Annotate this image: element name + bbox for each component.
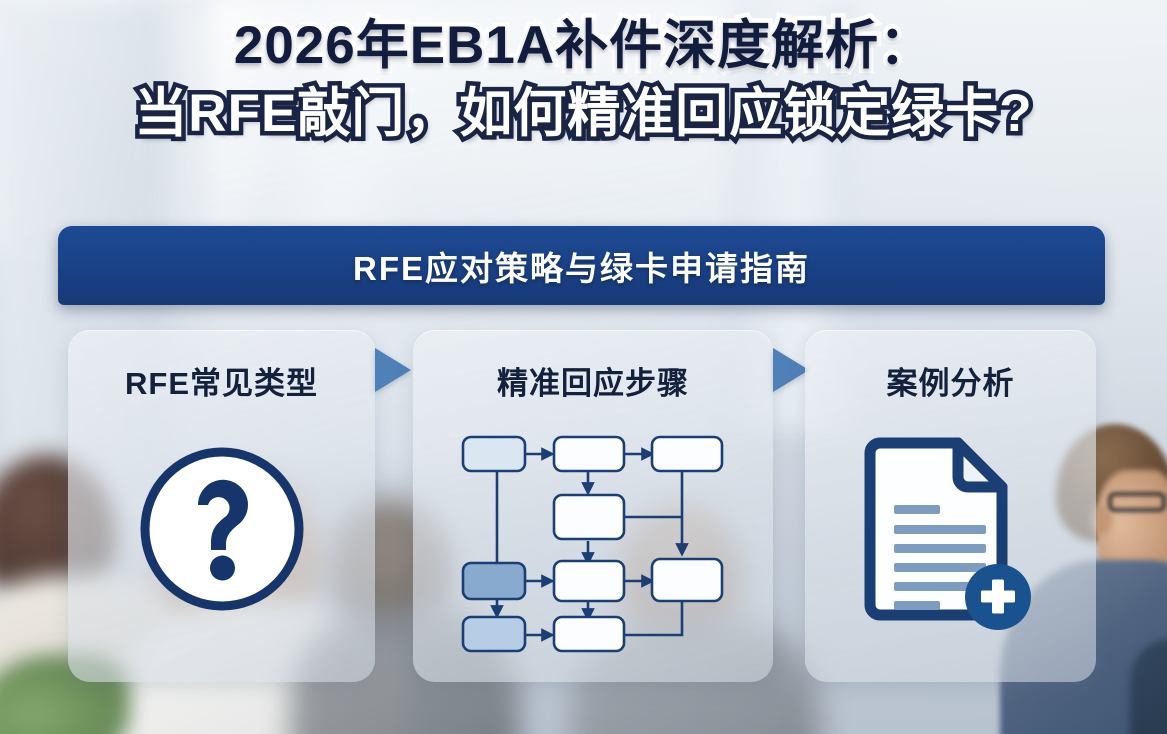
- section-header-bar: RFE应对策略与绿卡申请指南: [58, 226, 1105, 305]
- panel-rfe-types[interactable]: RFE常见类型: [68, 330, 375, 682]
- document-add-icon: [858, 437, 1044, 633]
- question-mark-circle-icon: [136, 443, 308, 615]
- panel-response-steps[interactable]: 精准回应步骤: [413, 330, 773, 682]
- panel-gap-2: [773, 330, 805, 682]
- section-header-title: RFE应对策略与绿卡申请指南: [353, 242, 810, 290]
- title-line-1: 2026年EB1A补件深度解析：: [0, 18, 1167, 74]
- panel-title-response-steps: 精准回应步骤: [497, 358, 689, 403]
- panel-title-case-analysis: 案例分析: [887, 358, 1015, 403]
- poster-title: 2026年EB1A补件深度解析： 当RFE敲门，如何精准回应锁定绿卡?: [0, 18, 1167, 141]
- title-line-2: 当RFE敲门，如何精准回应锁定绿卡?: [0, 86, 1167, 142]
- panel-title-rfe-types: RFE常见类型: [125, 358, 318, 403]
- flowchart-icon: [454, 431, 732, 653]
- flow-arrow-1-icon: [375, 348, 411, 392]
- panel-case-analysis[interactable]: 案例分析: [805, 330, 1096, 682]
- panel-gap-1: [375, 330, 413, 682]
- flow-arrow-2-icon: [773, 348, 809, 392]
- poster-canvas: 2026年EB1A补件深度解析： 当RFE敲门，如何精准回应锁定绿卡? RFE应…: [0, 0, 1167, 734]
- panel-row: RFE常见类型 精准回应步骤: [68, 330, 1096, 682]
- glasses-icon: [1108, 492, 1166, 512]
